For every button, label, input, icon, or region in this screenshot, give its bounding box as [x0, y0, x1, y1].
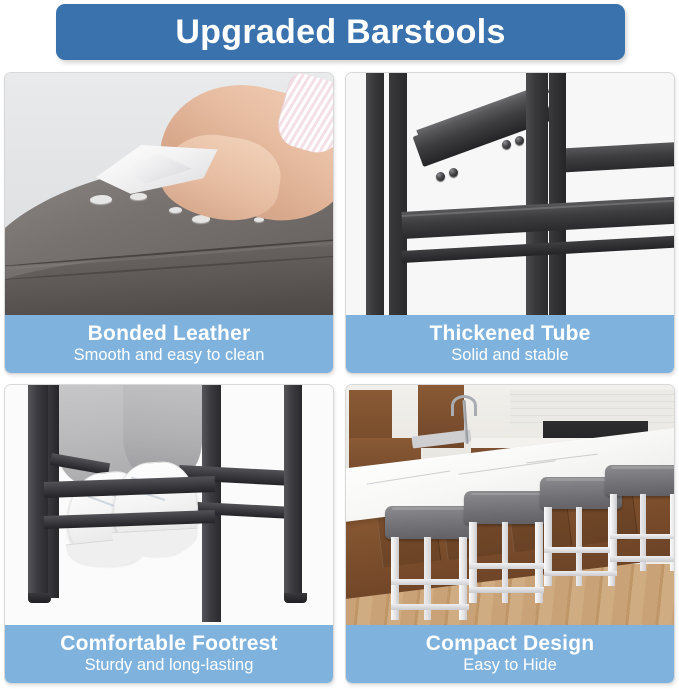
barstool-rung — [469, 563, 544, 568]
seat-highlight — [392, 507, 466, 510]
barstool — [464, 491, 549, 600]
bolt-icon — [449, 168, 458, 177]
caption-subtitle: Sturdy and long-lasting — [85, 656, 254, 675]
header-banner: Upgraded Barstools — [56, 4, 625, 60]
barstool-seat — [605, 465, 674, 496]
photo-comfortable-footrest — [5, 385, 333, 627]
caption-title: Thickened Tube — [429, 323, 590, 345]
vertical-tube — [526, 73, 547, 317]
caption-compact-design: Compact Design Easy to Hide — [346, 625, 674, 683]
vertical-tube — [366, 73, 384, 317]
caption-thickened-tube: Thickened Tube Solid and stable — [346, 315, 674, 373]
caption-comfortable-footrest: Comfortable Footrest Sturdy and long-las… — [5, 625, 333, 683]
barstool-rung — [544, 571, 616, 576]
barstool-rung — [610, 534, 674, 539]
barstool-rung — [391, 604, 469, 610]
barstool-rung — [610, 556, 674, 561]
barstool-rung — [391, 579, 469, 585]
seat-highlight — [611, 466, 674, 468]
caption-title: Compact Design — [426, 633, 595, 655]
feature-panel-thickened-tube: Thickened Tube Solid and stable — [345, 72, 675, 374]
caption-subtitle: Smooth and easy to clean — [74, 346, 265, 365]
vertical-tube — [549, 73, 565, 317]
leg-foot-cap — [284, 593, 307, 603]
page-title: Upgraded Barstools — [175, 15, 505, 49]
stool-leg — [284, 385, 302, 598]
seat-highlight — [471, 493, 543, 496]
feature-panel-bonded-leather: Bonded Leather Smooth and easy to clean — [4, 72, 334, 374]
barstool-seat — [464, 491, 549, 524]
photo-thickened-tube — [346, 73, 674, 317]
vertical-tube — [389, 73, 407, 317]
bolt-icon — [436, 172, 445, 181]
caption-subtitle: Solid and stable — [451, 346, 568, 365]
caption-subtitle: Easy to Hide — [463, 656, 557, 675]
horizontal-rail — [552, 141, 674, 173]
barstool — [385, 506, 474, 617]
bolt-icon — [515, 136, 524, 145]
caption-title: Bonded Leather — [88, 323, 251, 345]
caption-title: Comfortable Footrest — [60, 633, 278, 655]
product-infographic: Upgraded Barstools Bonded Leather Smooth… — [0, 0, 679, 689]
feature-panel-comfortable-footrest: Comfortable Footrest Sturdy and long-las… — [4, 384, 334, 684]
bolt-icon — [502, 140, 511, 149]
upper-cabinet — [349, 390, 392, 438]
photo-compact-design — [346, 385, 674, 627]
water-droplet — [130, 193, 147, 200]
barstool-rung — [469, 587, 544, 592]
photo-bonded-leather — [5, 73, 333, 317]
feature-panel-compact-design: Compact Design Easy to Hide — [345, 384, 675, 684]
leg-foot-cap — [28, 593, 51, 603]
barstool — [605, 465, 674, 569]
barstool-seat — [385, 506, 474, 539]
caption-bonded-leather: Bonded Leather Smooth and easy to clean — [5, 315, 333, 373]
